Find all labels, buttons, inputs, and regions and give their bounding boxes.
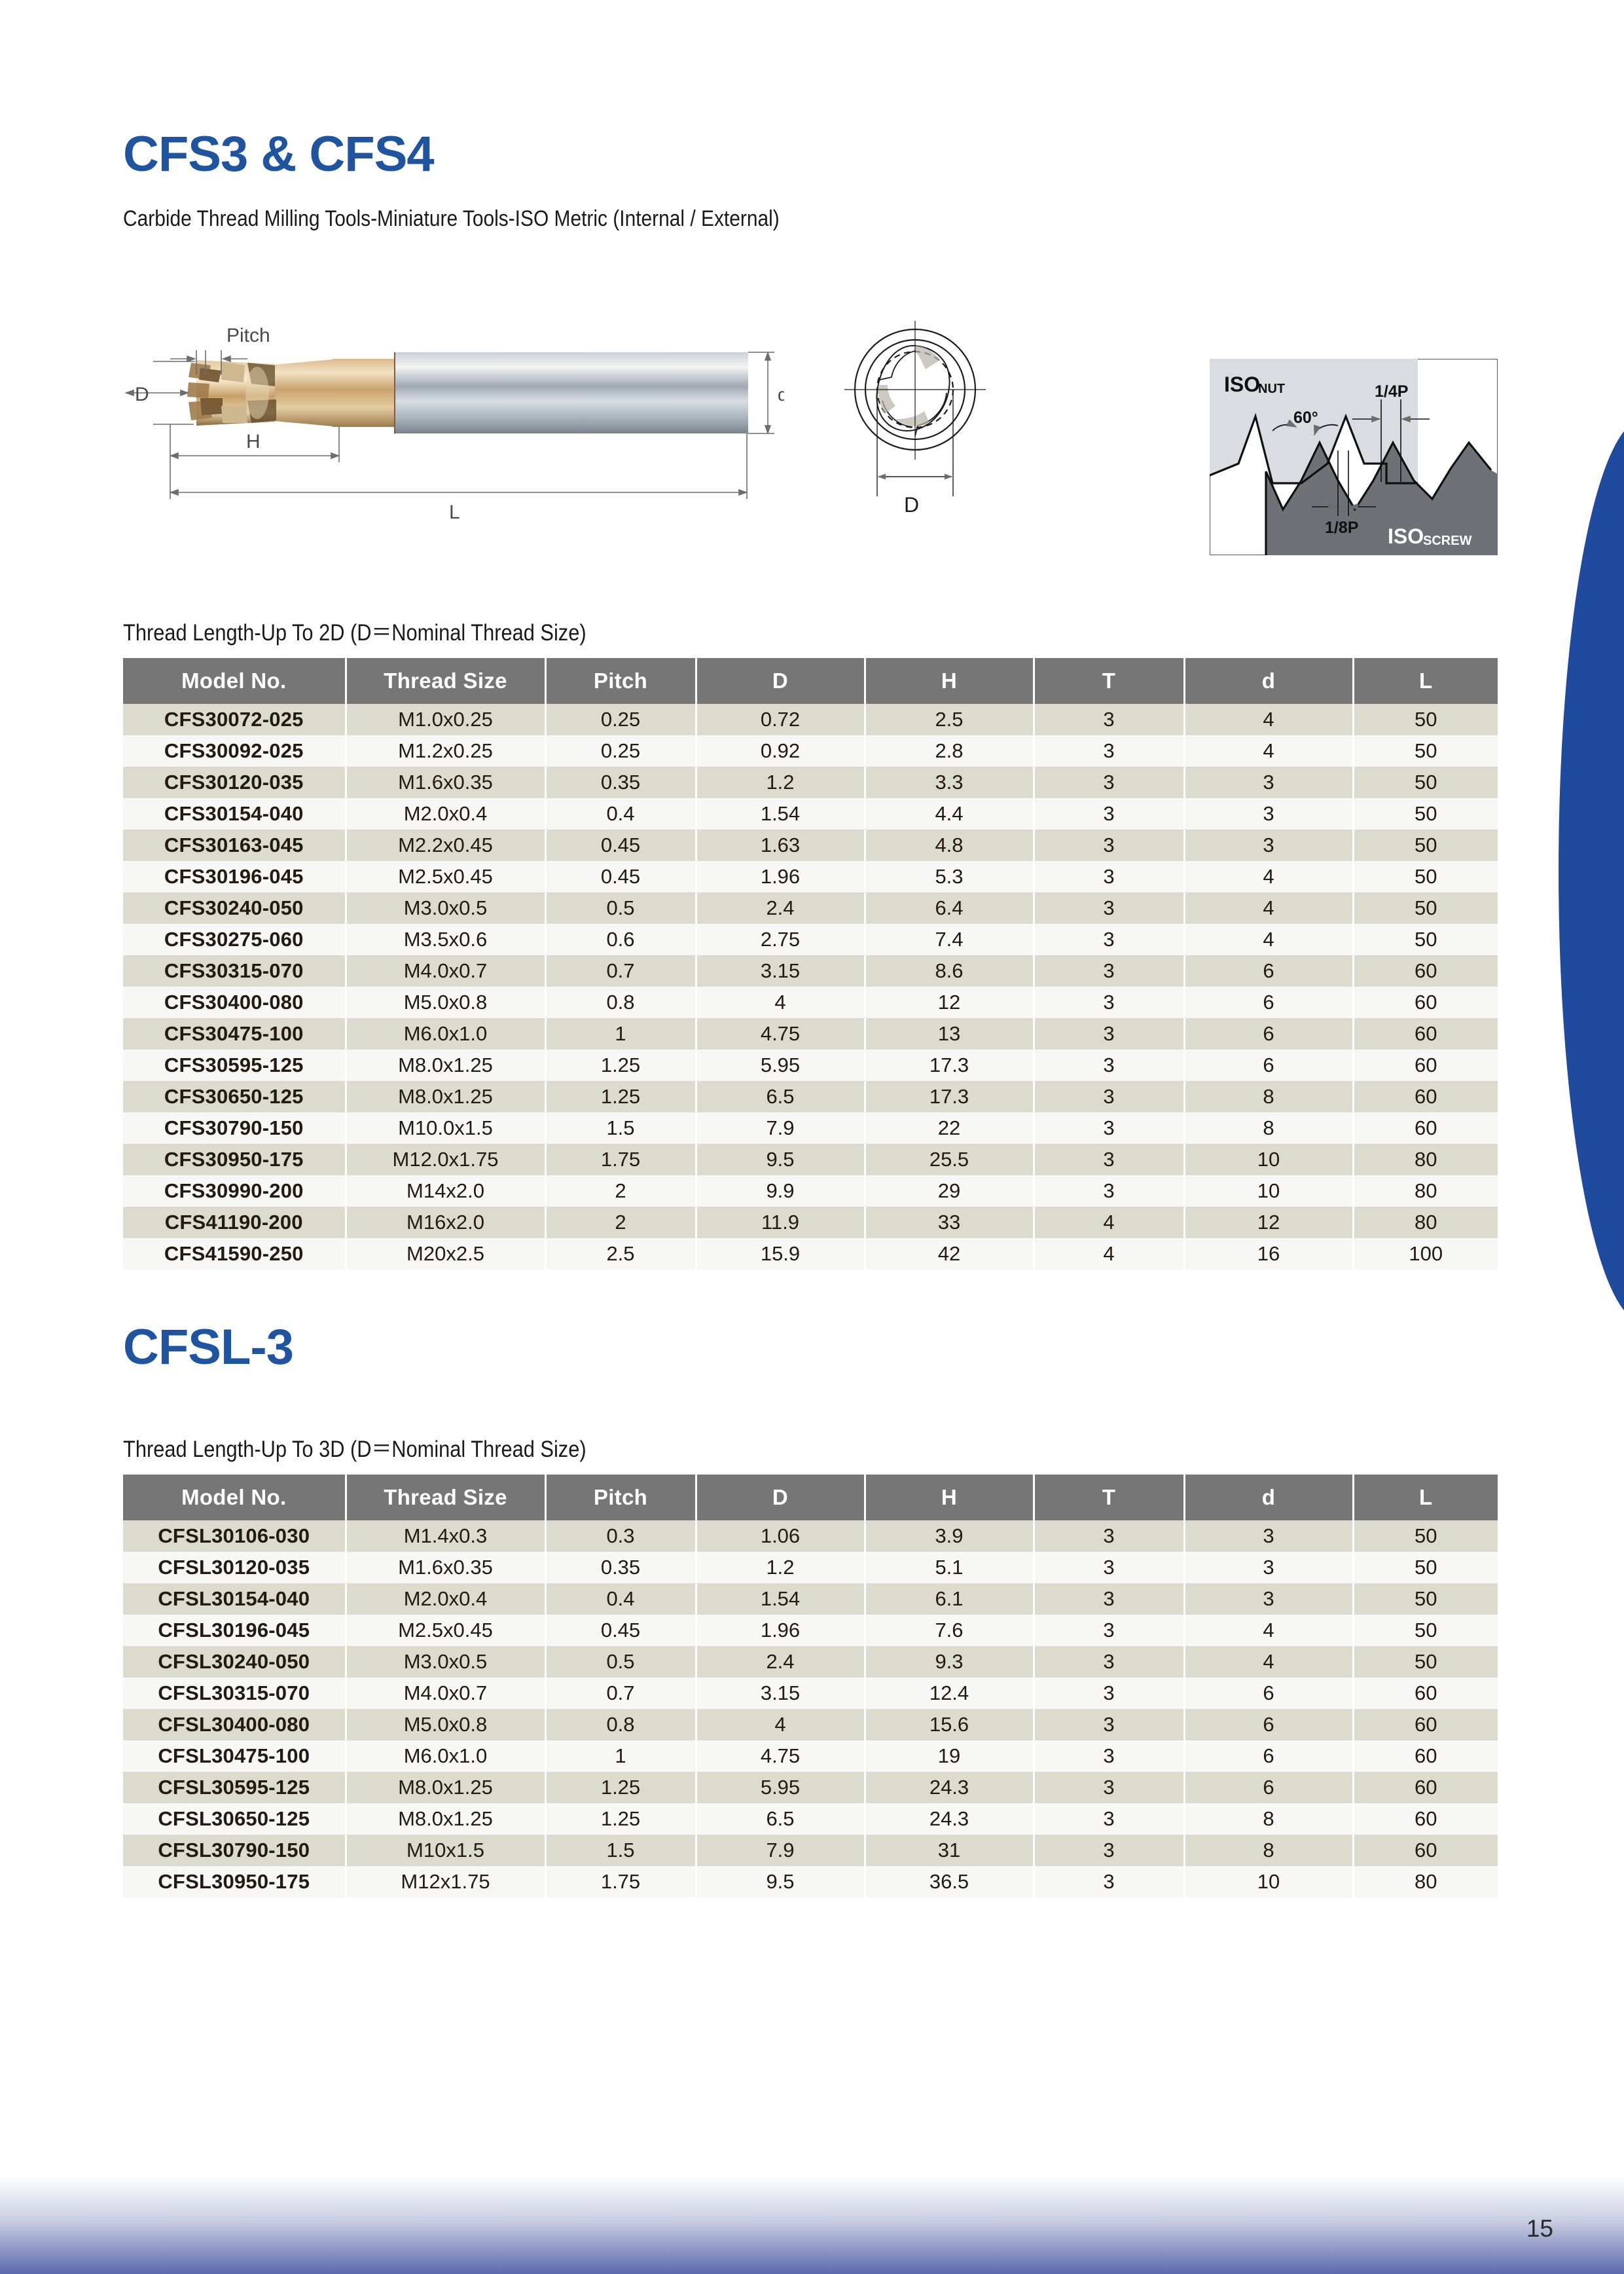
cell-value: 3 bbox=[1034, 1678, 1184, 1709]
cell-value: M2.0x0.4 bbox=[346, 1583, 545, 1615]
cell-value: 6.5 bbox=[696, 1081, 865, 1112]
col-header-d: d bbox=[1184, 658, 1353, 704]
cell-value: 0.35 bbox=[545, 1552, 696, 1583]
section2-table-wrap: Model No. Thread Size Pitch D H T d L CF… bbox=[123, 1475, 1498, 1898]
cell-value: 1.25 bbox=[545, 1772, 696, 1803]
cell-value: M3.0x0.5 bbox=[346, 892, 545, 924]
section2-table-caption: Thread Length-Up To 3D (D＝Nominal Thread… bbox=[123, 1431, 1333, 1464]
iso-quarter-p-label: 1/4P bbox=[1375, 382, 1408, 401]
cell-value: 2.4 bbox=[696, 1646, 865, 1678]
cell-model: CFSL30120-035 bbox=[123, 1552, 346, 1583]
cell-value: 3 bbox=[1034, 1050, 1184, 1081]
table-row: CFSL30315-070M4.0x0.70.73.1512.43660 bbox=[123, 1678, 1498, 1709]
cell-model: CFSL30315-070 bbox=[123, 1678, 346, 1709]
cell-value: 3 bbox=[1184, 1583, 1353, 1615]
cell-value: 60 bbox=[1353, 1112, 1498, 1144]
cell-value: 0.3 bbox=[545, 1520, 696, 1552]
cell-value: 6 bbox=[1184, 1678, 1353, 1709]
cell-value: 3 bbox=[1184, 1520, 1353, 1552]
cell-value: M2.2x0.45 bbox=[346, 830, 545, 861]
cell-value: 4.4 bbox=[865, 798, 1034, 830]
cell-value: 1 bbox=[545, 1740, 696, 1772]
table-row: CFSL30240-050M3.0x0.50.52.49.33450 bbox=[123, 1646, 1498, 1678]
fig-label-pitch: Pitch bbox=[226, 325, 270, 346]
cell-value: 0.7 bbox=[545, 1678, 696, 1709]
cell-value: M1.0x0.25 bbox=[346, 704, 545, 735]
cell-value: M10.0x1.5 bbox=[346, 1112, 545, 1144]
iso-thread-profile-figure: 60° 1/4P 1/8P ISO bbox=[1210, 359, 1498, 555]
cell-model: CFS30990-200 bbox=[123, 1175, 346, 1207]
cell-value: 60 bbox=[1353, 955, 1498, 987]
cell-value: 80 bbox=[1353, 1144, 1498, 1175]
cell-value: 0.4 bbox=[545, 1583, 696, 1615]
cell-value: 60 bbox=[1353, 987, 1498, 1018]
cell-model: CFS41190-200 bbox=[123, 1207, 346, 1238]
table-row: CFS30163-045M2.2x0.450.451.634.83350 bbox=[123, 830, 1498, 861]
cell-value: 4 bbox=[1184, 892, 1353, 924]
cell-value: 6 bbox=[1184, 1018, 1353, 1050]
cell-model: CFS30154-040 bbox=[123, 798, 346, 830]
cell-value: 7.9 bbox=[696, 1112, 865, 1144]
page-title: CFS3 & CFS4 bbox=[123, 130, 434, 179]
cell-value: 3 bbox=[1034, 798, 1184, 830]
cell-value: 0.45 bbox=[545, 861, 696, 892]
cell-model: CFS30275-060 bbox=[123, 924, 346, 955]
cell-value: 1.25 bbox=[545, 1050, 696, 1081]
cell-value: 80 bbox=[1353, 1866, 1498, 1898]
cell-value: 19 bbox=[865, 1740, 1034, 1772]
table-row: CFSL30475-100M6.0x1.014.75193660 bbox=[123, 1740, 1498, 1772]
cell-value: M12.0x1.75 bbox=[346, 1144, 545, 1175]
col-header-D: D bbox=[696, 1475, 865, 1520]
cell-value: 7.9 bbox=[696, 1835, 865, 1866]
cell-model: CFSL30650-125 bbox=[123, 1803, 346, 1835]
cell-value: 4 bbox=[1034, 1207, 1184, 1238]
cell-value: 17.3 bbox=[865, 1050, 1034, 1081]
table-row: CFS30120-035M1.6x0.350.351.23.33350 bbox=[123, 767, 1498, 798]
table-row: CFS30950-175M12.0x1.751.759.525.531080 bbox=[123, 1144, 1498, 1175]
cell-value: M1.6x0.35 bbox=[346, 1552, 545, 1583]
cell-model: CFSL30106-030 bbox=[123, 1520, 346, 1552]
cell-value: 6 bbox=[1184, 1050, 1353, 1081]
figure-row: Pitch D H L d bbox=[123, 314, 1498, 576]
cell-value: 1.5 bbox=[545, 1112, 696, 1144]
table-row: CFSL30120-035M1.6x0.350.351.25.13350 bbox=[123, 1552, 1498, 1583]
col-header-L: L bbox=[1353, 658, 1498, 704]
cell-value: 1.2 bbox=[696, 767, 865, 798]
cell-value: 50 bbox=[1353, 1552, 1498, 1583]
cell-value: 12 bbox=[1184, 1207, 1353, 1238]
cell-model: CFS30475-100 bbox=[123, 1018, 346, 1050]
cell-value: 7.6 bbox=[865, 1615, 1034, 1646]
cell-value: 9.3 bbox=[865, 1646, 1034, 1678]
cell-value: M2.0x0.4 bbox=[346, 798, 545, 830]
table-row: CFS30315-070M4.0x0.70.73.158.63660 bbox=[123, 955, 1498, 987]
cell-value: 60 bbox=[1353, 1803, 1498, 1835]
cell-model: CFS30120-035 bbox=[123, 767, 346, 798]
cell-value: 3 bbox=[1034, 1772, 1184, 1803]
cell-value: 4 bbox=[1184, 735, 1353, 767]
cell-value: 6 bbox=[1184, 987, 1353, 1018]
page-subtitle: Carbide Thread Milling Tools-Miniature T… bbox=[123, 206, 780, 232]
cell-value: M5.0x0.8 bbox=[346, 987, 545, 1018]
cell-value: 3.15 bbox=[696, 955, 865, 987]
cell-model: CFSL30154-040 bbox=[123, 1583, 346, 1615]
cell-value: 4 bbox=[1034, 1238, 1184, 1270]
cell-model: CFS30315-070 bbox=[123, 955, 346, 987]
table-row: CFS30240-050M3.0x0.50.52.46.43450 bbox=[123, 892, 1498, 924]
cell-value: 50 bbox=[1353, 1646, 1498, 1678]
table-row: CFS41190-200M16x2.0211.93341280 bbox=[123, 1207, 1498, 1238]
cell-value: 60 bbox=[1353, 1678, 1498, 1709]
cell-model: CFS30950-175 bbox=[123, 1144, 346, 1175]
cell-value: 10 bbox=[1184, 1866, 1353, 1898]
cell-value: 2.4 bbox=[696, 892, 865, 924]
col-header-model: Model No. bbox=[123, 1475, 346, 1520]
cell-value: M1.6x0.35 bbox=[346, 767, 545, 798]
cell-value: 1.25 bbox=[545, 1081, 696, 1112]
cell-value: 1.54 bbox=[696, 798, 865, 830]
cell-value: 3 bbox=[1034, 955, 1184, 987]
col-header-D: D bbox=[696, 658, 865, 704]
cell-value: M2.5x0.45 bbox=[346, 1615, 545, 1646]
cell-value: 29 bbox=[865, 1175, 1034, 1207]
table-row: CFS30275-060M3.5x0.60.62.757.43450 bbox=[123, 924, 1498, 955]
cell-value: 4 bbox=[1184, 1646, 1353, 1678]
cell-value: 50 bbox=[1353, 830, 1498, 861]
cell-value: 17.3 bbox=[865, 1081, 1034, 1112]
cell-value: 2.8 bbox=[865, 735, 1034, 767]
cell-model: CFSL30790-150 bbox=[123, 1835, 346, 1866]
cell-value: 3 bbox=[1034, 830, 1184, 861]
cell-value: 1.25 bbox=[545, 1803, 696, 1835]
cell-value: 3 bbox=[1034, 1144, 1184, 1175]
cell-value: 60 bbox=[1353, 1709, 1498, 1740]
cell-value: 50 bbox=[1353, 704, 1498, 735]
cell-value: 60 bbox=[1353, 1835, 1498, 1866]
cell-value: M2.5x0.45 bbox=[346, 861, 545, 892]
table-row: CFS30990-200M14x2.029.92931080 bbox=[123, 1175, 1498, 1207]
cell-value: M10x1.5 bbox=[346, 1835, 545, 1866]
col-header-L: L bbox=[1353, 1475, 1498, 1520]
cell-value: 8 bbox=[1184, 1803, 1353, 1835]
col-header-T: T bbox=[1034, 658, 1184, 704]
cell-value: M8.0x1.25 bbox=[346, 1081, 545, 1112]
table-header-row: Model No. Thread Size Pitch D H T d L bbox=[123, 658, 1498, 704]
cell-value: 5.95 bbox=[696, 1772, 865, 1803]
table-row: CFS30072-025M1.0x0.250.250.722.53450 bbox=[123, 704, 1498, 735]
fig-label-L: L bbox=[449, 502, 460, 523]
cell-value: 3 bbox=[1034, 735, 1184, 767]
table-row: CFS30196-045M2.5x0.450.451.965.33450 bbox=[123, 861, 1498, 892]
iso-nut-label: ISO bbox=[1224, 373, 1260, 396]
cell-value: M16x2.0 bbox=[346, 1207, 545, 1238]
table-header-row: Model No. Thread Size Pitch D H T d L bbox=[123, 1475, 1498, 1520]
cell-value: 6 bbox=[1184, 955, 1353, 987]
cell-value: 8.6 bbox=[865, 955, 1034, 987]
cell-value: 10 bbox=[1184, 1144, 1353, 1175]
cell-value: M1.2x0.25 bbox=[346, 735, 545, 767]
cell-value: 1 bbox=[545, 1018, 696, 1050]
section1-table-caption: Thread Length-Up To 2D (D＝Nominal Thread… bbox=[123, 614, 1333, 648]
cell-value: 100 bbox=[1353, 1238, 1498, 1270]
cell-model: CFS30240-050 bbox=[123, 892, 346, 924]
col-header-T: T bbox=[1034, 1475, 1184, 1520]
table-row: CFS30400-080M5.0x0.80.84123660 bbox=[123, 987, 1498, 1018]
cell-model: CFS30163-045 bbox=[123, 830, 346, 861]
fig-label-d: d bbox=[778, 384, 784, 405]
page-number: 15 bbox=[1526, 2215, 1553, 2243]
cell-value: 15.9 bbox=[696, 1238, 865, 1270]
cell-value: 9.5 bbox=[696, 1144, 865, 1175]
cell-value: 36.5 bbox=[865, 1866, 1034, 1898]
cell-value: 0.92 bbox=[696, 735, 865, 767]
cell-value: M20x2.5 bbox=[346, 1238, 545, 1270]
section1-table-wrap: Model No. Thread Size Pitch D H T d L CF… bbox=[123, 658, 1498, 1270]
cell-value: 50 bbox=[1353, 892, 1498, 924]
cell-value: 7.4 bbox=[865, 924, 1034, 955]
cell-value: 24.3 bbox=[865, 1803, 1034, 1835]
table-row: CFS30650-125M8.0x1.251.256.517.33860 bbox=[123, 1081, 1498, 1112]
cell-value: 6.1 bbox=[865, 1583, 1034, 1615]
cell-value: 5.1 bbox=[865, 1552, 1034, 1583]
cell-model: CFS41590-250 bbox=[123, 1238, 346, 1270]
cell-value: 4 bbox=[1184, 924, 1353, 955]
cell-value: 3.9 bbox=[865, 1520, 1034, 1552]
cell-value: 1.2 bbox=[696, 1552, 865, 1583]
table-row: CFS30154-040M2.0x0.40.41.544.43350 bbox=[123, 798, 1498, 830]
iso-nut-sub-label: NUT bbox=[1258, 382, 1285, 396]
cell-value: 4 bbox=[1184, 704, 1353, 735]
col-header-d: d bbox=[1184, 1475, 1353, 1520]
cell-value: 4 bbox=[1184, 861, 1353, 892]
cell-model: CFSL30400-080 bbox=[123, 1709, 346, 1740]
cell-value: 6 bbox=[1184, 1772, 1353, 1803]
tool-end-view-figure: D bbox=[817, 314, 1066, 537]
cell-value: 50 bbox=[1353, 1520, 1498, 1552]
cell-value: 1.63 bbox=[696, 830, 865, 861]
col-header-pitch: Pitch bbox=[545, 1475, 696, 1520]
cell-value: 1.5 bbox=[545, 1835, 696, 1866]
table-row: CFSL30196-045M2.5x0.450.451.967.63450 bbox=[123, 1615, 1498, 1646]
catalog-page: Carbide Special Cutters Series CFS3 & CF… bbox=[0, 0, 1624, 2274]
table-row: CFS30790-150M10.0x1.51.57.9223860 bbox=[123, 1112, 1498, 1144]
col-header-H: H bbox=[865, 1475, 1034, 1520]
cell-value: 16 bbox=[1184, 1238, 1353, 1270]
cell-model: CFS30072-025 bbox=[123, 704, 346, 735]
table-row: CFSL30595-125M8.0x1.251.255.9524.33660 bbox=[123, 1772, 1498, 1803]
cell-value: 0.5 bbox=[545, 892, 696, 924]
cell-value: 50 bbox=[1353, 861, 1498, 892]
cell-value: 3 bbox=[1034, 1552, 1184, 1583]
cell-value: 6.4 bbox=[865, 892, 1034, 924]
cell-value: M12x1.75 bbox=[346, 1866, 545, 1898]
col-header-thread-size: Thread Size bbox=[346, 658, 545, 704]
cell-value: 12.4 bbox=[865, 1678, 1034, 1709]
cell-value: 3 bbox=[1034, 1866, 1184, 1898]
cell-model: CFS30400-080 bbox=[123, 987, 346, 1018]
table-row: CFS30595-125M8.0x1.251.255.9517.33660 bbox=[123, 1050, 1498, 1081]
footer-gradient bbox=[0, 2176, 1624, 2274]
cell-value: 3 bbox=[1034, 1018, 1184, 1050]
col-header-thread-size: Thread Size bbox=[346, 1475, 545, 1520]
cell-value: 1.96 bbox=[696, 1615, 865, 1646]
cell-model: CFS30650-125 bbox=[123, 1081, 346, 1112]
cell-value: 5.3 bbox=[865, 861, 1034, 892]
cell-value: 50 bbox=[1353, 924, 1498, 955]
cell-value: M8.0x1.25 bbox=[346, 1772, 545, 1803]
iso-angle-label: 60° bbox=[1293, 409, 1318, 427]
cell-value: 3 bbox=[1034, 1112, 1184, 1144]
cell-value: 50 bbox=[1353, 735, 1498, 767]
cell-value: 8 bbox=[1184, 1835, 1353, 1866]
cell-value: M4.0x0.7 bbox=[346, 1678, 545, 1709]
cell-value: 8 bbox=[1184, 1081, 1353, 1112]
cell-value: 5.95 bbox=[696, 1050, 865, 1081]
fig-end-label-D: D bbox=[904, 493, 919, 517]
table-row: CFS30092-025M1.2x0.250.250.922.83450 bbox=[123, 735, 1498, 767]
cell-value: 1.75 bbox=[545, 1866, 696, 1898]
cell-value: 3 bbox=[1034, 1709, 1184, 1740]
cell-value: 60 bbox=[1353, 1772, 1498, 1803]
cell-value: 3 bbox=[1034, 1081, 1184, 1112]
cell-model: CFSL30240-050 bbox=[123, 1646, 346, 1678]
cell-model: CFS30196-045 bbox=[123, 861, 346, 892]
cell-value: 0.8 bbox=[545, 1709, 696, 1740]
cell-value: 60 bbox=[1353, 1081, 1498, 1112]
cell-value: 4.8 bbox=[865, 830, 1034, 861]
cell-value: 3 bbox=[1034, 924, 1184, 955]
cell-value: 0.72 bbox=[696, 704, 865, 735]
cell-value: 9.9 bbox=[696, 1175, 865, 1207]
cell-value: 2 bbox=[545, 1207, 696, 1238]
cell-value: 3 bbox=[1034, 1646, 1184, 1678]
cell-value: 3 bbox=[1034, 704, 1184, 735]
side-tab: Carbide Special Cutters Series bbox=[1559, 419, 1624, 1323]
cell-value: 10 bbox=[1184, 1175, 1353, 1207]
cell-value: 0.7 bbox=[545, 955, 696, 987]
table-row: CFS41590-250M20x2.52.515.942416100 bbox=[123, 1238, 1498, 1270]
cell-model: CFS30790-150 bbox=[123, 1112, 346, 1144]
cell-value: 3 bbox=[1034, 1740, 1184, 1772]
section1-spec-table: Model No. Thread Size Pitch D H T d L CF… bbox=[123, 658, 1498, 1270]
cell-value: 80 bbox=[1353, 1175, 1498, 1207]
cell-value: 6.5 bbox=[696, 1803, 865, 1835]
table-row: CFS30475-100M6.0x1.014.75133660 bbox=[123, 1018, 1498, 1050]
cell-value: 3.3 bbox=[865, 767, 1034, 798]
cell-value: 3 bbox=[1184, 830, 1353, 861]
cell-model: CFSL30196-045 bbox=[123, 1615, 346, 1646]
cell-value: 3 bbox=[1034, 987, 1184, 1018]
cell-value: 3 bbox=[1034, 1520, 1184, 1552]
cell-value: 1.75 bbox=[545, 1144, 696, 1175]
cell-value: 50 bbox=[1353, 1583, 1498, 1615]
cell-value: 4 bbox=[696, 1709, 865, 1740]
cell-value: 60 bbox=[1353, 1740, 1498, 1772]
cell-value: 2.75 bbox=[696, 924, 865, 955]
cell-value: M3.5x0.6 bbox=[346, 924, 545, 955]
cell-value: M6.0x1.0 bbox=[346, 1740, 545, 1772]
col-header-pitch: Pitch bbox=[545, 658, 696, 704]
cell-value: 3 bbox=[1034, 892, 1184, 924]
cell-value: 0.25 bbox=[545, 735, 696, 767]
cell-value: 3.15 bbox=[696, 1678, 865, 1709]
cell-value: 24.3 bbox=[865, 1772, 1034, 1803]
cell-value: 4.75 bbox=[696, 1018, 865, 1050]
cell-model: CFSL30950-175 bbox=[123, 1866, 346, 1898]
cell-value: M6.0x1.0 bbox=[346, 1018, 545, 1050]
cell-value: 50 bbox=[1353, 767, 1498, 798]
cell-value: M1.4x0.3 bbox=[346, 1520, 545, 1552]
table-row: CFSL30400-080M5.0x0.80.8415.63660 bbox=[123, 1709, 1498, 1740]
col-header-model: Model No. bbox=[123, 658, 346, 704]
col-header-H: H bbox=[865, 658, 1034, 704]
cell-value: 2 bbox=[545, 1175, 696, 1207]
cell-value: 0.8 bbox=[545, 987, 696, 1018]
cell-value: 50 bbox=[1353, 1615, 1498, 1646]
cell-value: 0.6 bbox=[545, 924, 696, 955]
section2-table-block: Thread Length-Up To 3D (D＝Nominal Thread… bbox=[123, 1431, 1498, 1464]
cell-value: 2.5 bbox=[545, 1238, 696, 1270]
cell-value: 0.45 bbox=[545, 830, 696, 861]
cell-value: 3 bbox=[1034, 1615, 1184, 1646]
cell-value: 3 bbox=[1034, 1583, 1184, 1615]
cell-value: M8.0x1.25 bbox=[346, 1803, 545, 1835]
table-row: CFSL30950-175M12x1.751.759.536.531080 bbox=[123, 1866, 1498, 1898]
cell-model: CFS30595-125 bbox=[123, 1050, 346, 1081]
iso-screw-sub-label: SCREW bbox=[1423, 534, 1472, 548]
cell-value: 9.5 bbox=[696, 1866, 865, 1898]
section1-table-block: Thread Length-Up To 2D (D＝Nominal Thread… bbox=[123, 614, 1498, 648]
cell-value: 22 bbox=[865, 1112, 1034, 1144]
cell-value: 1.06 bbox=[696, 1520, 865, 1552]
cell-model: CFS30092-025 bbox=[123, 735, 346, 767]
cell-value: 80 bbox=[1353, 1207, 1498, 1238]
cell-value: 8 bbox=[1184, 1112, 1353, 1144]
cell-value: 12 bbox=[865, 987, 1034, 1018]
cell-value: 3 bbox=[1184, 767, 1353, 798]
fig-label-H: H bbox=[246, 431, 261, 452]
cell-value: M8.0x1.25 bbox=[346, 1050, 545, 1081]
cell-value: 4 bbox=[1184, 1615, 1353, 1646]
cell-value: 31 bbox=[865, 1835, 1034, 1866]
table-row: CFSL30650-125M8.0x1.251.256.524.33860 bbox=[123, 1803, 1498, 1835]
cell-model: CFSL30475-100 bbox=[123, 1740, 346, 1772]
section2-title: CFSL-3 bbox=[123, 1323, 293, 1372]
cell-value: 11.9 bbox=[696, 1207, 865, 1238]
section2-spec-table: Model No. Thread Size Pitch D H T d L CF… bbox=[123, 1475, 1498, 1898]
cell-value: 3 bbox=[1034, 767, 1184, 798]
cell-value: 15.6 bbox=[865, 1709, 1034, 1740]
cell-value: M3.0x0.5 bbox=[346, 1646, 545, 1678]
cell-value: M4.0x0.7 bbox=[346, 955, 545, 987]
cell-value: 3 bbox=[1184, 1552, 1353, 1583]
cell-value: 13 bbox=[865, 1018, 1034, 1050]
iso-screw-label: ISO bbox=[1388, 524, 1424, 548]
table-row: CFSL30154-040M2.0x0.40.41.546.13350 bbox=[123, 1583, 1498, 1615]
cell-value: M5.0x0.8 bbox=[346, 1709, 545, 1740]
cell-value: 4.75 bbox=[696, 1740, 865, 1772]
cell-value: 42 bbox=[865, 1238, 1034, 1270]
cell-value: 60 bbox=[1353, 1018, 1498, 1050]
tool-side-view-figure: Pitch D H L d bbox=[123, 314, 784, 530]
cell-value: 0.45 bbox=[545, 1615, 696, 1646]
cell-value: 3 bbox=[1034, 861, 1184, 892]
cell-value: 50 bbox=[1353, 798, 1498, 830]
cell-model: CFSL30595-125 bbox=[123, 1772, 346, 1803]
cell-value: 3 bbox=[1184, 798, 1353, 830]
cell-value: 60 bbox=[1353, 1050, 1498, 1081]
